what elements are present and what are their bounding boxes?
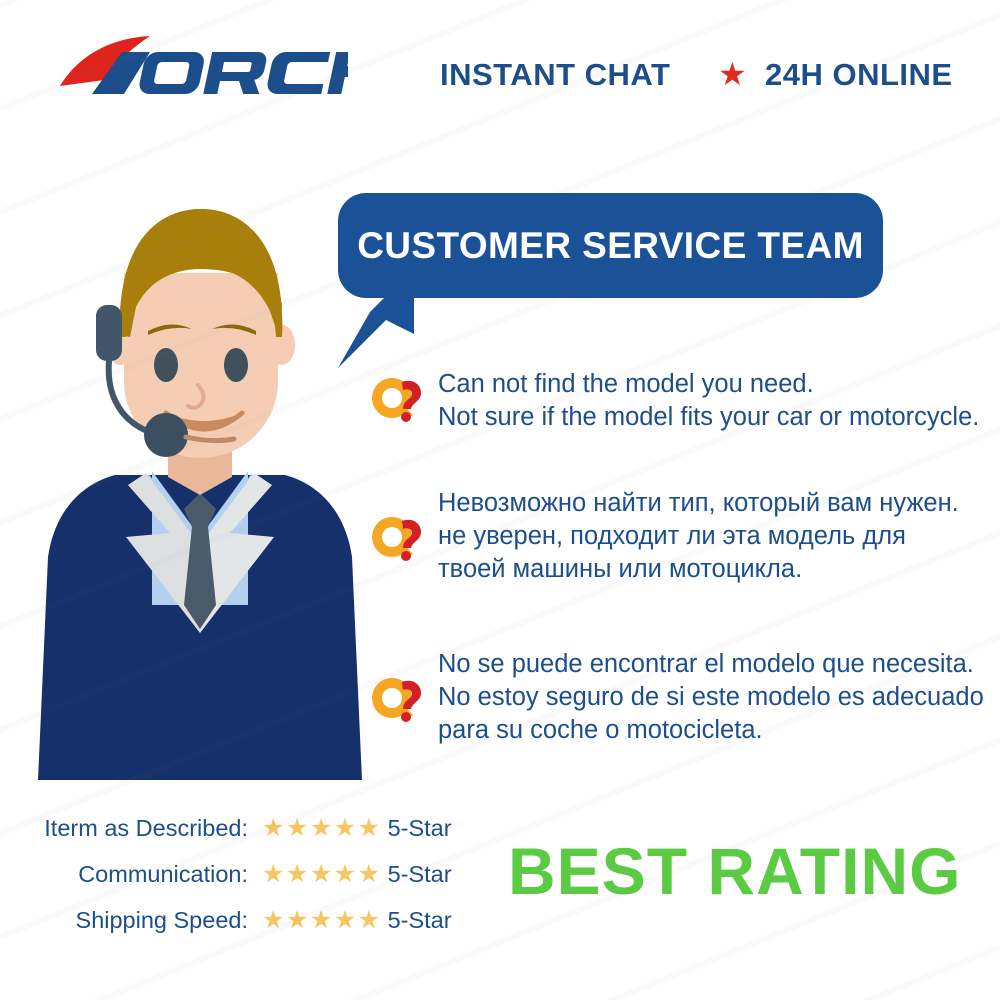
rating-stars-icon: ★★★★★ — [262, 816, 382, 841]
rating-value: 5-Star — [388, 815, 452, 842]
faq-item-spanish: No se puede encontrar el modelo que nece… — [368, 648, 984, 747]
rating-value: 5-Star — [388, 907, 452, 934]
torch-logo — [58, 34, 348, 100]
question-mark-icon — [368, 672, 424, 728]
header: INSTANT CHAT ★ 24H ONLINE — [0, 0, 1000, 130]
rating-value: 5-Star — [388, 861, 452, 888]
promo-banner: INSTANT CHAT ★ 24H ONLINE — [0, 0, 1000, 1000]
rating-row: Iterm as Described: ★★★★★ 5-Star — [20, 808, 490, 848]
speech-bubble-tail — [336, 290, 426, 370]
faq-item-russian: Невозможно найти тип, который вам нужен.… — [368, 487, 959, 586]
rating-label: Communication: — [20, 861, 262, 888]
faq-text-spanish: No se puede encontrar el modelo que nece… — [438, 648, 984, 747]
faq-text-russian: Невозможно найти тип, который вам нужен.… — [438, 487, 959, 586]
best-rating-badge: BEST RATING — [508, 833, 961, 909]
rating-stars-icon: ★★★★★ — [262, 908, 382, 933]
speech-bubble-title: CUSTOMER SERVICE TEAM — [338, 193, 883, 298]
rating-stars-icon: ★★★★★ — [262, 862, 382, 887]
faq-text-english: Can not find the model you need. Not sur… — [438, 368, 979, 434]
rating-row: Shipping Speed: ★★★★★ 5-Star — [20, 900, 490, 940]
rating-row: Communication: ★★★★★ 5-Star — [20, 854, 490, 894]
rating-label: Shipping Speed: — [20, 907, 262, 934]
faq-item-english: Can not find the model you need. Not sur… — [368, 368, 979, 434]
star-icon: ★ — [718, 58, 747, 90]
header-online-label: 24H ONLINE — [765, 57, 953, 93]
agent-head — [107, 209, 295, 458]
question-mark-icon — [368, 372, 424, 428]
ratings-list: Iterm as Described: ★★★★★ 5-Star Communi… — [20, 808, 490, 946]
customer-service-agent-illustration — [20, 185, 380, 785]
question-mark-icon — [368, 511, 424, 567]
speech-bubble: CUSTOMER SERVICE TEAM — [338, 193, 883, 298]
header-tagline: INSTANT CHAT — [440, 57, 670, 93]
rating-label: Iterm as Described: — [20, 815, 262, 842]
agent-body — [38, 435, 362, 780]
